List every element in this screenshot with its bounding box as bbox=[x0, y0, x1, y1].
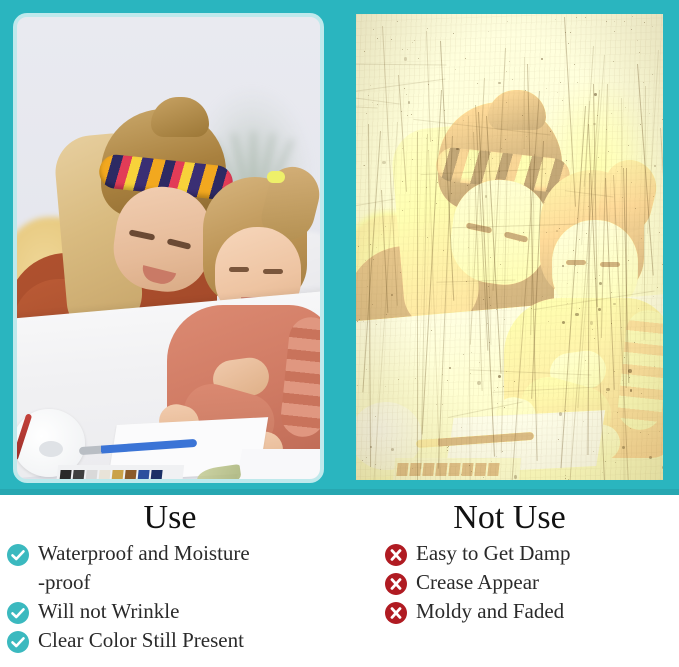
check-circle-icon bbox=[6, 601, 30, 625]
good-photo-image bbox=[17, 17, 320, 479]
infographic-root: Use Waterproof and Moisture -proof bbox=[0, 0, 679, 667]
not-use-column: Not Use Easy to Get Damp Crease Appear bbox=[340, 495, 679, 667]
damaged-photo-image bbox=[356, 14, 663, 480]
x-circle-icon bbox=[384, 543, 408, 567]
use-list: Waterproof and Moisture -proof Will not … bbox=[6, 541, 340, 654]
list-item: Crease Appear bbox=[384, 570, 679, 596]
list-item-label: Will not Wrinkle bbox=[38, 599, 179, 624]
teal-banner bbox=[0, 0, 679, 495]
list-item: Moldy and Faded bbox=[384, 599, 679, 625]
drawing-paper-secondary bbox=[236, 449, 320, 479]
list-item: Easy to Get Damp bbox=[384, 541, 679, 567]
good-photo-frame bbox=[13, 13, 324, 483]
x-circle-icon bbox=[384, 601, 408, 625]
child-eye-left bbox=[229, 267, 249, 272]
sepia-child-eye-left bbox=[566, 260, 586, 265]
list-item-continuation: -proof bbox=[6, 570, 340, 596]
caption-panel: Use Waterproof and Moisture -proof bbox=[0, 495, 679, 667]
list-item-label: Crease Appear bbox=[416, 570, 539, 595]
damaged-photo-frame bbox=[356, 14, 663, 480]
list-item: Will not Wrinkle bbox=[6, 599, 340, 625]
check-circle-icon bbox=[6, 630, 30, 654]
child-eye-right bbox=[263, 269, 283, 274]
use-heading: Use bbox=[0, 499, 340, 537]
sepia-child-eye-right bbox=[600, 262, 620, 267]
child-hair-tie bbox=[267, 171, 285, 183]
list-item-label: Clear Color Still Present bbox=[38, 628, 244, 653]
sepia-watercolor-paint-set bbox=[393, 458, 521, 480]
check-circle-icon bbox=[6, 543, 30, 567]
list-item-label: Waterproof and Moisture bbox=[38, 541, 250, 566]
list-item: Waterproof and Moisture bbox=[6, 541, 340, 567]
use-column: Use Waterproof and Moisture -proof bbox=[0, 495, 340, 667]
watercolor-paint-set bbox=[56, 465, 184, 479]
spacer-icon bbox=[6, 572, 30, 596]
list-item-label: Moldy and Faded bbox=[416, 599, 564, 624]
not-use-list: Easy to Get Damp Crease Appear Moldy and… bbox=[384, 541, 679, 625]
list-item: Clear Color Still Present bbox=[6, 628, 340, 654]
not-use-heading: Not Use bbox=[340, 499, 679, 537]
list-item-label: -proof bbox=[38, 570, 90, 595]
list-item-label: Easy to Get Damp bbox=[416, 541, 571, 566]
x-circle-icon bbox=[384, 572, 408, 596]
